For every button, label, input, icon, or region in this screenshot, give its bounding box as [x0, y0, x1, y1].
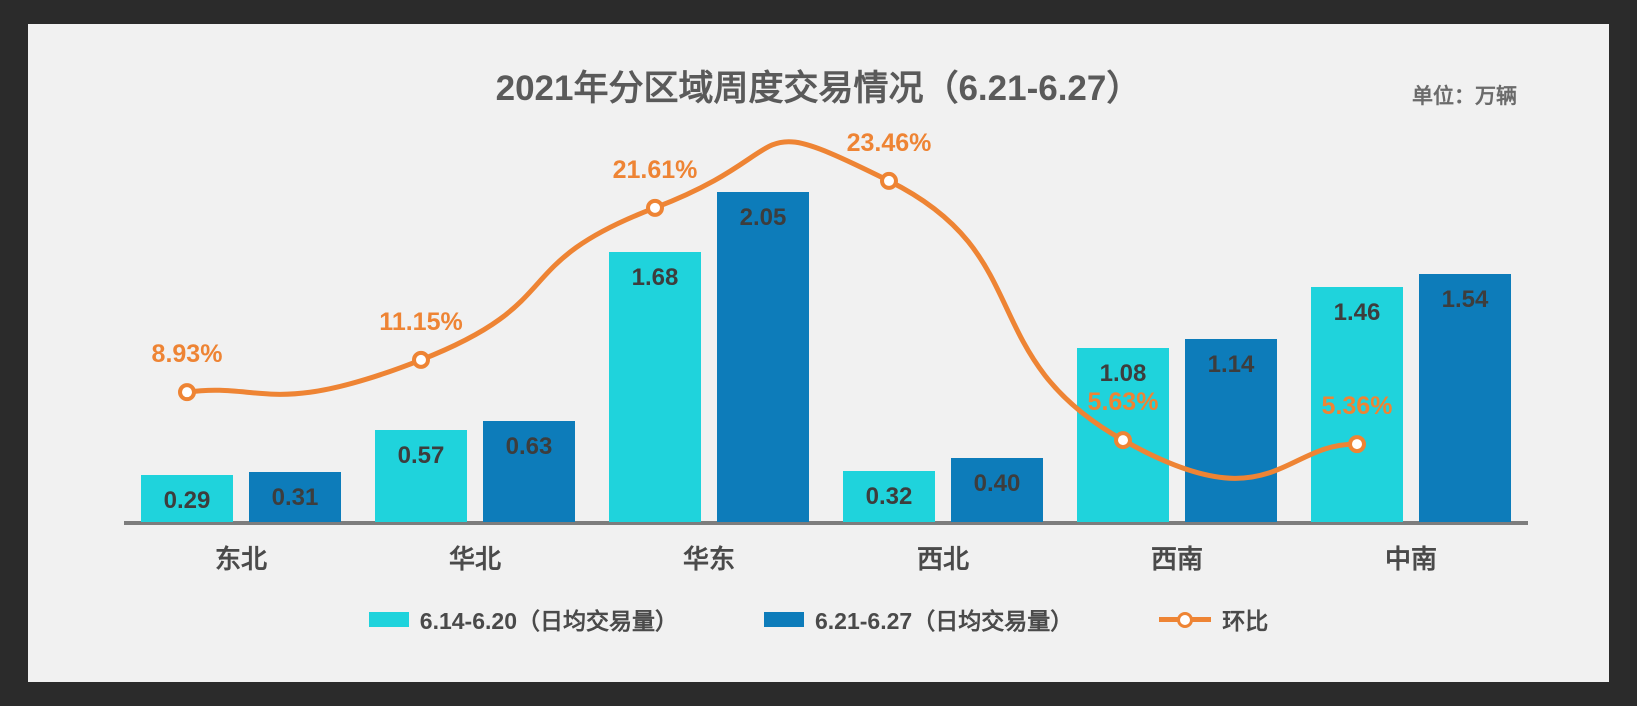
category-label-4: 西北	[833, 539, 1053, 576]
bar-value-label: 1.46	[1311, 301, 1403, 325]
category-label-2: 华北	[365, 539, 585, 576]
legend-swatch-icon	[369, 612, 409, 627]
bar-group: 1.461.54	[1311, 144, 1511, 522]
percent-label-3: 21.61%	[613, 156, 698, 185]
bar-value-label: 1.14	[1185, 353, 1277, 377]
legend-line-marker-icon	[1159, 610, 1211, 628]
bar-value-label: 0.63	[483, 435, 575, 459]
bar-series-2[interactable]: 1.14	[1185, 339, 1277, 522]
bar-series-1[interactable]: 0.57	[375, 430, 467, 522]
legend-item-3[interactable]: 环比	[1159, 602, 1268, 636]
legend-label: 6.21-6.27（日均交易量）	[815, 602, 1073, 636]
chart-card: 2021年分区域周度交易情况（6.21-6.27） 单位：万辆 0.290.31…	[28, 24, 1609, 682]
bar-series-2[interactable]: 0.63	[483, 421, 575, 522]
bar-series-1[interactable]: 0.32	[843, 471, 935, 522]
percent-label-1: 8.93%	[152, 340, 223, 369]
percent-label-6: 5.36%	[1322, 392, 1393, 421]
legend-label: 6.14-6.20（日均交易量）	[420, 602, 678, 636]
bar-series-2[interactable]: 2.05	[717, 192, 809, 522]
plot-area: 0.290.310.570.631.682.050.320.401.081.14…	[124, 144, 1528, 522]
bar-series-2[interactable]: 1.54	[1419, 274, 1511, 522]
bar-group: 1.682.05	[609, 144, 809, 522]
legend-label: 环比	[1222, 602, 1268, 636]
category-label-6: 中南	[1301, 539, 1521, 576]
category-label-3: 华东	[599, 539, 819, 576]
percent-label-5: 5.63%	[1088, 388, 1159, 417]
bar-series-2[interactable]: 0.40	[951, 458, 1043, 522]
bar-value-label: 0.32	[843, 485, 935, 509]
bar-value-label: 0.40	[951, 472, 1043, 496]
bar-group: 1.081.14	[1077, 144, 1277, 522]
bar-series-2[interactable]: 0.31	[249, 472, 341, 522]
bar-series-1[interactable]: 1.08	[1077, 348, 1169, 522]
category-label-5: 西南	[1067, 539, 1287, 576]
bar-group: 0.320.40	[843, 144, 1043, 522]
bar-value-label: 0.57	[375, 444, 467, 468]
bar-series-1[interactable]: 0.29	[141, 475, 233, 522]
bar-value-label: 1.54	[1419, 288, 1511, 312]
bar-value-label: 1.08	[1077, 362, 1169, 386]
percent-label-4: 23.46%	[847, 129, 932, 158]
bar-value-label: 2.05	[717, 206, 809, 230]
category-label-1: 东北	[131, 539, 351, 576]
bar-series-1[interactable]: 1.68	[609, 252, 701, 522]
bar-value-label: 0.29	[141, 489, 233, 513]
legend-swatch-icon	[764, 612, 804, 627]
unit-label: 单位：万辆	[1412, 80, 1517, 110]
bar-value-label: 1.68	[609, 266, 701, 290]
page-title: 2021年分区域周度交易情况（6.21-6.27）	[28, 60, 1609, 111]
bar-value-label: 0.31	[249, 486, 341, 510]
percent-label-2: 11.15%	[379, 308, 462, 337]
legend-item-1[interactable]: 6.14-6.20（日均交易量）	[369, 602, 678, 636]
legend-item-2[interactable]: 6.21-6.27（日均交易量）	[764, 602, 1073, 636]
chart-legend: 6.14-6.20（日均交易量）6.21-6.27（日均交易量）环比	[28, 602, 1609, 636]
bar-group: 0.290.31	[141, 144, 341, 522]
